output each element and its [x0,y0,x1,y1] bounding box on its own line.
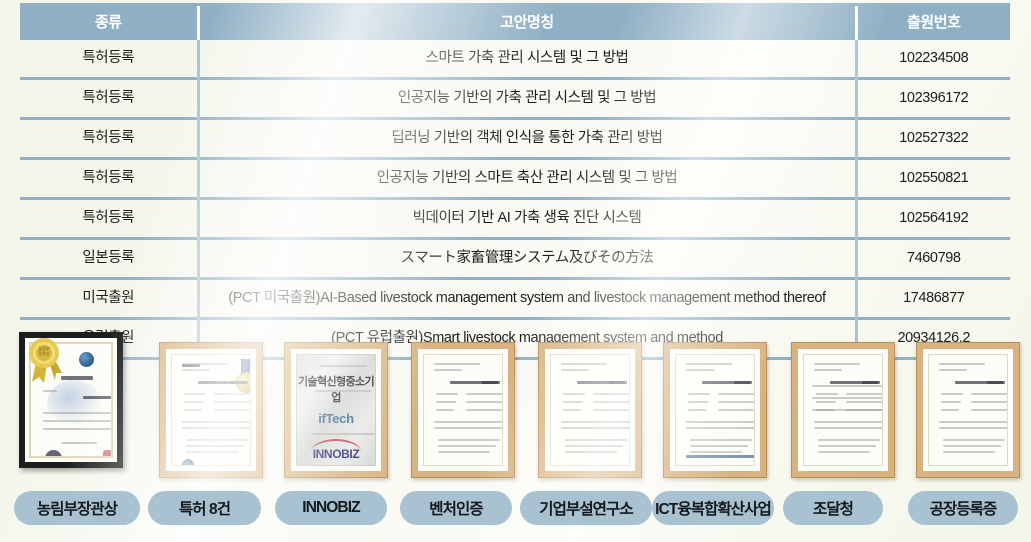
certificate-text-line [563,409,581,411]
certificate-watermark [47,380,101,424]
certificate-text-line [688,393,710,395]
cell-title: 스마트 가축 관리 시스템 및 그 방법 [198,39,856,79]
certificate-text-line [186,439,248,441]
certificate-text-line [43,428,112,430]
certificate-text-line [846,393,883,395]
red-stamp-icon [103,450,112,457]
certificate-text-line [182,369,210,371]
cell-title: 딥러닝 기반의 객체 인식을 통한 가축 관리 방법 [198,119,856,159]
government-emblem-icon [79,352,94,367]
certificate-text-line [941,401,961,403]
certificate-text-line [436,401,456,403]
certificate-text-line [573,465,613,466]
certificate-text-line [184,393,206,395]
cell-kind: 일본등록 [20,239,198,279]
table-grid-line [812,385,883,387]
innobiz-plaque: 기술혁신형중소기업ifTechINNOBIZ [296,354,376,466]
intellectual-property-table: 종류 고안명칭 출원번호 특허등록스마트 가축 관리 시스템 및 그 방법102… [20,6,1010,360]
certificate-text-line [690,445,748,447]
certificate-text-line [214,401,251,403]
certificate-label-pill[interactable]: 농림부장관상 [14,491,140,525]
certificate-text-line [482,381,498,384]
table-row: 일본등록スマート家畜管理システム及びその方法7460798 [20,239,1010,279]
certificate-text-line [43,420,112,422]
certificate-image[interactable] [159,342,263,478]
certificate-text-line [434,369,462,371]
table-grid-line [812,409,883,411]
cell-title: 인공지능 기반의 가축 관리 시스템 및 그 방법 [198,79,856,119]
certificate-text-line [818,445,876,447]
certificate-text-line [818,439,880,441]
certificate-label-pill[interactable]: 공장등록증 [908,491,1018,525]
column-header-number: 출원번호 [856,6,1010,39]
certificate-text-line [718,393,755,395]
ip-table-container: 종류 고안명칭 출원번호 특허등록스마트 가축 관리 시스템 및 그 방법102… [20,3,1010,360]
certificate-text-line [943,439,1005,441]
certificate-text-line [182,363,228,365]
certificate-text-line [434,421,503,423]
table-grid-line [812,397,883,399]
certificate-label-pill[interactable]: 특허 8건 [148,491,261,525]
cell-title: スマート家畜管理システム及びその方法 [198,239,856,279]
certificate-text-line [943,451,995,453]
cell-kind: 특허등록 [20,39,198,79]
certificate-item[interactable] [148,342,274,478]
certificate-text-line [182,421,251,423]
certificate-label-pill[interactable]: 벤처인증 [400,491,512,525]
certificate-item[interactable]: 농림부장관상 [8,332,134,468]
certificate-text-line [184,401,204,403]
certificate-item[interactable]: 기술혁신형중소기업ifTechINNOBIZ [273,342,399,478]
table-header-row: 종류 고안명칭 출원번호 [20,6,1010,39]
certificate-paper [675,354,755,466]
cell-number: 17486877 [856,279,1010,319]
certificate-text-line [814,363,860,365]
certificate-text-line [690,451,742,453]
cell-kind: 특허등록 [20,119,198,159]
column-header-kind: 종류 [20,6,198,39]
certificate-text-line [565,445,623,447]
certificate-text-line [446,465,486,466]
table-head: 종류 고안명칭 출원번호 [20,6,1010,39]
certificate-text-line [686,363,732,365]
certificate-label-row: 농림부장관상특허 8건INNOBIZ벤처인증기업부설연구소ICT융복합확산사업조… [0,488,1031,528]
certificate-text-line [718,401,755,403]
cell-number: 102234508 [856,39,1010,79]
certificate-item[interactable] [400,342,526,478]
plaque-title: 기술혁신형중소기업 [297,373,375,405]
cell-kind: 특허등록 [20,199,198,239]
certificate-text-line [43,390,57,392]
certificate-item[interactable] [652,342,778,478]
certificate-text-line [939,421,1008,423]
certificate-text-line [987,381,1003,384]
certificate-text-line [688,401,708,403]
certificate-paper [171,354,251,466]
certificate-paper [550,354,630,466]
cell-number: 7460798 [856,239,1010,279]
certificate-label-pill[interactable]: ICT융복합확산사업 [652,491,774,525]
certificate-text-line [862,381,878,384]
cell-title: (PCT 미국출원)AI-Based livestock management … [198,279,856,319]
certificate-text-line [194,465,234,466]
certificate-text-line [565,451,617,453]
certificate-text-line [609,381,625,384]
certificate-text-line [971,409,1007,411]
certificate-text-line [686,455,755,458]
certificate-paper [423,354,503,466]
certificate-text-line [43,412,112,414]
certificate-label-pill[interactable]: INNOBIZ [275,491,387,525]
certificate-text-line [734,381,750,384]
certificate-text-line [846,401,883,403]
certificate-text-line [466,409,502,411]
certificate-text-line [593,401,630,403]
certificate-label-pill[interactable]: 조달청 [783,491,883,525]
certificate-text-line [466,401,503,403]
certificate-text-line [83,396,112,399]
certificate-text-line [686,369,714,371]
certificate-text-line [438,451,490,453]
certificate-image[interactable] [663,342,767,478]
certificate-text-line [941,409,959,411]
certificate-text-line [182,427,251,429]
plaque-text-line [311,433,375,435]
certificate-text-line [561,369,589,371]
certificate-text-line [186,445,244,447]
certificate-text-line [939,427,1008,429]
certificate-item[interactable] [780,342,906,478]
certificate-image[interactable] [916,342,1020,478]
certificate-text-line [818,451,870,453]
certificate-image[interactable] [538,342,642,478]
plaque-subtitle-line [319,365,367,367]
certificate-text-line [718,409,754,411]
certificate-text-line [563,401,583,403]
certificate-text-line [971,393,1008,395]
certificate-text-line [565,439,627,441]
table-row: 특허등록스마트 가축 관리 시스템 및 그 방법102234508 [20,39,1010,79]
certificate-text-line [951,465,991,466]
cell-number: 102527322 [856,119,1010,159]
certificate-text-line [214,393,251,395]
certificate-text-line [563,393,585,395]
certificate-text-line [561,363,607,365]
certificate-text-line [816,393,838,395]
cell-number: 102396172 [856,79,1010,119]
certificate-paper [928,354,1008,466]
table-row: 특허등록인공지능 기반의 스마트 축산 관리 시스템 및 그 방법1025508… [20,159,1010,199]
certificate-image[interactable]: 기술혁신형중소기업ifTechINNOBIZ [284,342,388,478]
certificate-text-line [230,381,246,384]
certificate-text-line [816,401,836,403]
official-seal-icon [45,450,62,457]
certificate-text-line [434,363,480,365]
innobiz-wordmark: INNOBIZ [297,447,375,461]
certificate-text-line [943,445,1001,447]
certificate-item[interactable] [905,342,1031,478]
cell-title: 인공지능 기반의 스마트 축산 관리 시스템 및 그 방법 [198,159,856,199]
cell-number: 102564192 [856,199,1010,239]
certificate-text-line [593,409,629,411]
certificate-item[interactable] [527,342,653,478]
certificate-text-line [561,421,630,423]
certificate-text-line [438,439,500,441]
table-row: 미국출원(PCT 미국출원)AI-Based livestock managem… [20,279,1010,319]
certificate-text-line [690,439,752,441]
certificate-title-line [61,376,93,380]
certificate-text-line [184,409,202,411]
certificate-text-line [826,465,866,466]
certificate-text-line [814,369,842,371]
certificate-text-line [61,442,97,444]
certificate-text-line [466,393,503,395]
cell-kind: 특허등록 [20,79,198,119]
plaque-text-line [315,390,371,392]
table-row: 특허등록인공지능 기반의 가축 관리 시스템 및 그 방법102396172 [20,79,1010,119]
cell-kind: 미국출원 [20,279,198,319]
certificate-image[interactable]: 농림부장관상 [19,332,123,468]
ittech-logo-text: ifTech [297,411,375,426]
certificate-text-line [561,427,630,429]
certificate-text-line [814,427,883,429]
certificate-label-pill[interactable]: 기업부설연구소 [520,491,652,525]
certificate-text-line [939,369,967,371]
certificate-text-line [688,409,706,411]
cell-title: 빅데이터 기반 AI 가축 생육 진단 시스템 [198,199,856,239]
certificate-paper [803,354,883,466]
certificate-text-line [436,393,458,395]
column-header-title: 고안명칭 [198,6,856,39]
certificate-text-line [686,427,755,429]
certificate-text-line [814,421,883,423]
certificate-text-line [939,363,985,365]
certificate-image[interactable] [791,342,895,478]
certificate-text-line [434,427,503,429]
table-row: 특허등록딥러닝 기반의 객체 인식을 통한 가축 관리 방법102527322 [20,119,1010,159]
certificate-text-line [186,451,238,453]
certificate-text-line [941,393,963,395]
certificate-text-line [698,465,738,466]
svg-text:장관상: 장관상 [38,350,49,356]
certificate-text-line [593,393,630,395]
gold-rosette-icon: 농림부장관상 [25,336,63,384]
certificate-text-line [214,409,250,411]
table-body: 특허등록스마트 가축 관리 시스템 및 그 방법102234508특허등록인공지… [20,39,1010,359]
cell-kind: 특허등록 [20,159,198,199]
table-row: 특허등록빅데이터 기반 AI 가축 생육 진단 시스템102564192 [20,199,1010,239]
certificate-image[interactable] [411,342,515,478]
certificate-text-line [971,401,1008,403]
certificate-text-line [438,445,496,447]
certificate-text-line [686,421,755,423]
cell-number: 102550821 [856,159,1010,199]
certificate-text-line [436,409,454,411]
government-emblem-icon [182,459,194,466]
